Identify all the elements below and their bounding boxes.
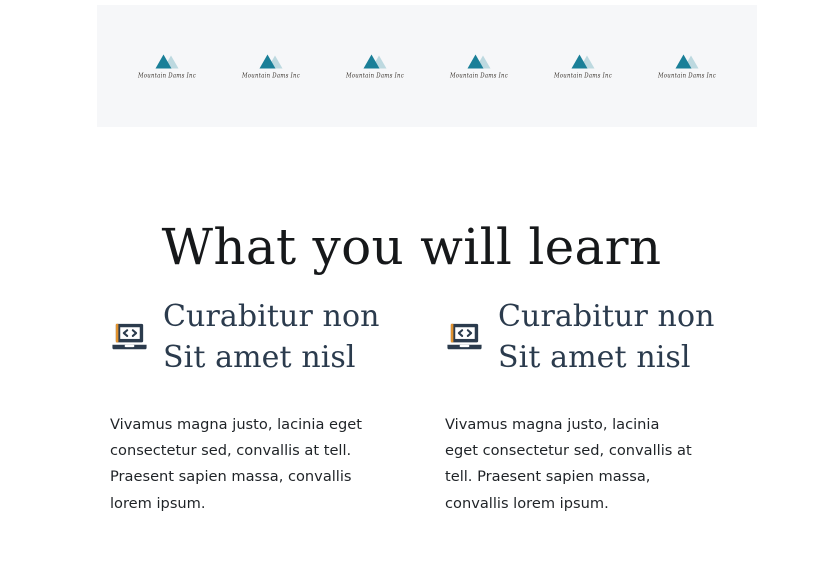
feature-card: Curabitur non Sit amet nisl Vivamus magn…	[445, 296, 730, 517]
feature-list: Curabitur non Sit amet nisl Vivamus magn…	[110, 296, 730, 517]
partner-logo-strip: Mountain Dams Inc Mountain Dams Inc Moun…	[97, 5, 757, 127]
partner-logo-item[interactable]: Mountain Dams Inc	[329, 53, 421, 79]
partner-logo-item[interactable]: Mountain Dams Inc	[537, 53, 629, 79]
feature-card-body: Vivamus magna justo, lacinia eget consec…	[110, 378, 365, 516]
partner-logo-wordmark: Mountain Dams Inc	[450, 72, 508, 80]
partner-logo-wordmark: Mountain Dams Inc	[346, 72, 404, 80]
mountain-logo-icon	[362, 53, 388, 70]
feature-card-body: Vivamus magna justo, lacinia eget consec…	[445, 378, 695, 516]
partner-logo-item[interactable]: Mountain Dams Inc	[433, 53, 525, 79]
section-heading: What you will learn	[0, 220, 823, 275]
partner-logo-item[interactable]: Mountain Dams Inc	[225, 53, 317, 79]
partner-logo-wordmark: Mountain Dams Inc	[138, 72, 196, 80]
feature-card-title: Curabitur non Sit amet nisl	[498, 296, 730, 378]
partner-logo-wordmark: Mountain Dams Inc	[242, 72, 300, 80]
partner-logo-wordmark: Mountain Dams Inc	[658, 72, 716, 80]
mountain-logo-icon	[570, 53, 596, 70]
partner-logo-wordmark: Mountain Dams Inc	[554, 72, 612, 80]
partner-logo-item[interactable]: Mountain Dams Inc	[641, 53, 733, 79]
feature-card-header: Curabitur non Sit amet nisl	[110, 296, 395, 378]
partner-logo-item[interactable]: Mountain Dams Inc	[121, 53, 213, 79]
laptop-code-icon	[110, 317, 149, 356]
feature-card: Curabitur non Sit amet nisl Vivamus magn…	[110, 296, 395, 517]
mountain-logo-icon	[674, 53, 700, 70]
mountain-logo-icon	[466, 53, 492, 70]
mountain-logo-icon	[154, 53, 180, 70]
feature-card-title: Curabitur non Sit amet nisl	[163, 296, 395, 378]
feature-card-header: Curabitur non Sit amet nisl	[445, 296, 730, 378]
mountain-logo-icon	[258, 53, 284, 70]
laptop-code-icon	[445, 317, 484, 356]
